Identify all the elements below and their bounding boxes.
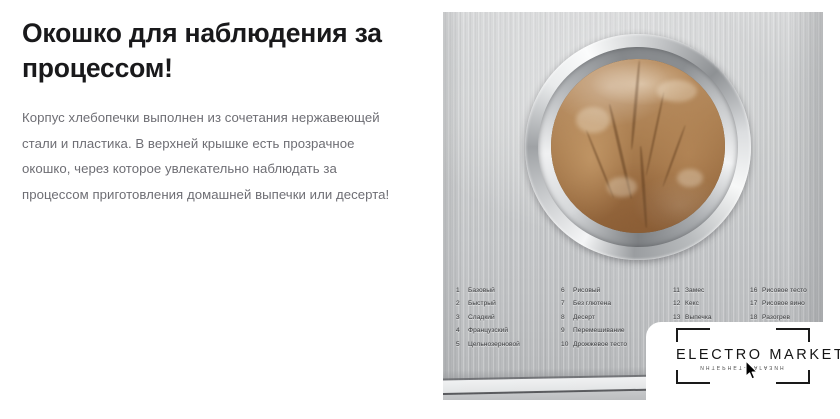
watermark-card: ELECTRO MARKET ИНТЕРНЕТ-МАГАЗИН [646, 322, 840, 419]
program-number: 10 [561, 338, 569, 351]
flour-dusting [677, 169, 703, 187]
program-number: 8 [561, 311, 569, 324]
flour-dusting [657, 80, 697, 102]
program-number: 7 [561, 297, 569, 310]
list-item: 2Быстрый [456, 297, 561, 310]
list-item: 1Базовый [456, 284, 561, 297]
program-label: Рисовое тесто [762, 284, 807, 297]
viewing-window [525, 34, 751, 260]
flour-dusting [607, 177, 637, 197]
mouse-cursor-icon [745, 360, 760, 386]
program-label: Замес [685, 284, 704, 297]
program-number: 9 [561, 324, 569, 337]
crust-crack [645, 92, 665, 176]
list-item: 3Сладкий [456, 311, 561, 324]
program-label: Быстрый [468, 297, 496, 310]
program-number: 3 [456, 311, 464, 324]
list-item: 16Рисовое тесто [750, 284, 823, 297]
program-number: 17 [750, 297, 758, 310]
bracket-corner-bottom-left [676, 370, 710, 384]
program-label: Цельнозерновой [468, 338, 520, 351]
program-label: Перемешивание [573, 324, 625, 337]
bracket-corner-top-left [676, 328, 710, 342]
program-label: Без глютена [573, 297, 611, 310]
watermark-bracket-frame: ELECTRO MARKET ИНТЕРНЕТ-МАГАЗИН [676, 328, 810, 384]
list-item: 7Без глютена [561, 297, 673, 310]
program-label: Кекс [685, 297, 699, 310]
program-label: Рисовый [573, 284, 600, 297]
program-number: 11 [673, 284, 681, 297]
description-paragraph: Корпус хлебопечки выполнен из сочетания … [22, 105, 394, 207]
watermark-subtitle: ИНТЕРНЕТ-МАГАЗИН [676, 364, 810, 370]
list-item: 11Замес [673, 284, 750, 297]
program-number: 6 [561, 284, 569, 297]
program-label: Дрожжевое тесто [573, 338, 627, 351]
program-number: 5 [456, 338, 464, 351]
program-number: 2 [456, 297, 464, 310]
program-number: 1 [456, 284, 464, 297]
program-number: 16 [750, 284, 758, 297]
program-label: Десерт [573, 311, 595, 324]
window-glass [551, 59, 725, 233]
program-label: Базовый [468, 284, 495, 297]
list-item: 12Кекс [673, 297, 750, 310]
program-column-1: 1Базовый 2Быстрый 3Сладкий 4Французский … [451, 284, 561, 351]
program-label: Сладкий [468, 311, 495, 324]
flour-dusting [576, 107, 610, 133]
program-number: 12 [673, 297, 681, 310]
bracket-corner-bottom-right [776, 370, 810, 384]
watermark-title: ELECTRO MARKET [676, 347, 810, 363]
bread-loaf-icon [551, 59, 725, 233]
list-item: 6Рисовый [561, 284, 673, 297]
promo-banner: Окошко для наблюдения за процессом! Корп… [0, 0, 840, 419]
crust-crack [630, 60, 641, 150]
page-title: Окошко для наблюдения за процессом! [22, 16, 398, 86]
program-number: 4 [456, 324, 464, 337]
list-item: 5Цельнозерновой [456, 338, 561, 351]
list-item: 4Французский [456, 324, 561, 337]
list-item: 17Рисовое вино [750, 297, 823, 310]
program-label: Французский [468, 324, 508, 337]
text-column: Окошко для наблюдения за процессом! Корп… [0, 0, 420, 419]
program-label: Рисовое вино [762, 297, 805, 310]
bracket-corner-top-right [776, 328, 810, 342]
crust-crack [639, 146, 647, 228]
